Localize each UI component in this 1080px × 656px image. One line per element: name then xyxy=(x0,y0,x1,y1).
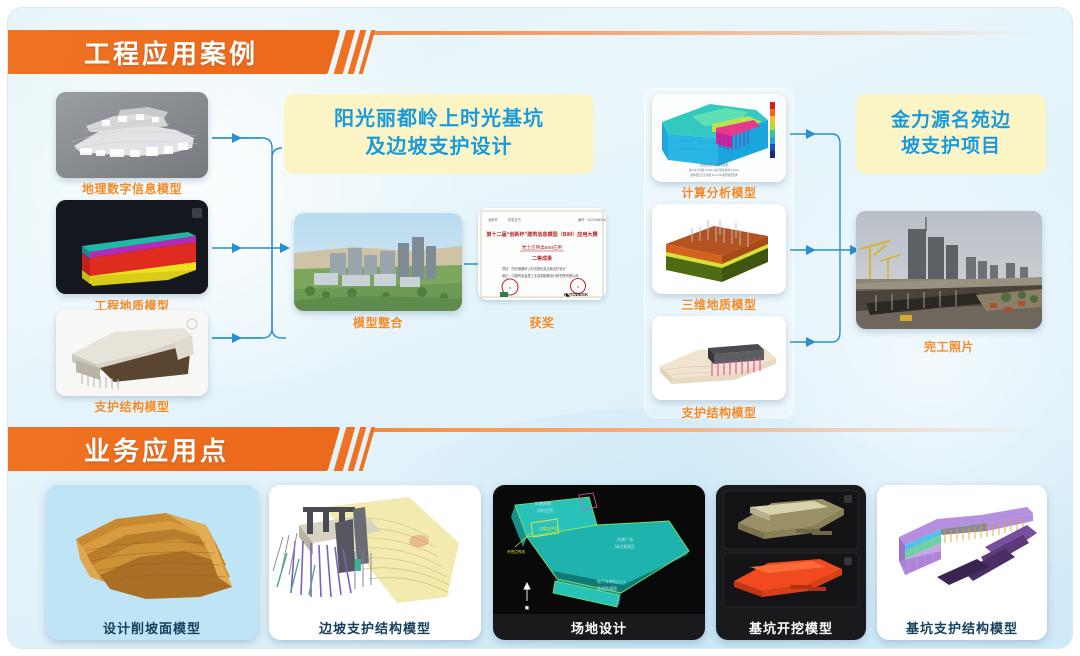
geology-block-art xyxy=(652,204,786,294)
plate-right-line-2: 坡支护项目 xyxy=(901,134,1001,160)
svg-text:★: ★ xyxy=(577,285,580,289)
svg-text:创新杯: 创新杯 xyxy=(488,217,498,222)
plate-line-2: 及边坡支护设计 xyxy=(366,134,513,162)
business-card-label-3: 场地设计 xyxy=(493,614,705,640)
thumbnail-analysis-model[interactable]: 边坡稳定性计算分析成果 最大水平位移 0.012m 最大竖向位移 0.021m … xyxy=(652,94,786,182)
svg-text:单位：中国有色金属工业昆明勘察设计研究院有限公司: 单位：中国有色金属工业昆明勘察设计研究院有限公司 xyxy=(502,273,579,278)
business-card-label-4: 基坑开挖模型 xyxy=(716,614,866,640)
slide-panel: 工程应用案例 xyxy=(8,8,1072,648)
right-connector-arrows xyxy=(788,94,866,414)
thumbnail-3d-geology-model[interactable] xyxy=(652,204,786,294)
business-card-pit-support[interactable]: 基坑支护结构模型 xyxy=(877,485,1047,640)
header2-rule xyxy=(374,428,1034,432)
retaining-wall-art xyxy=(56,310,208,396)
svg-text:N: N xyxy=(526,605,529,610)
thumbnail-support-structure-model-right[interactable] xyxy=(652,316,786,400)
svg-text:拟建广场: 拟建广场 xyxy=(617,536,633,542)
svg-text:地下车库出入口: 地下车库出入口 xyxy=(597,578,625,584)
caption-analysis-model: 计算分析模型 xyxy=(652,184,786,201)
point-cloud-terrain-art xyxy=(56,92,208,178)
svg-text:开挖边界线: 开挖边界线 xyxy=(507,549,525,554)
svg-text:最大水平位移 0.012m 最大竖向位移 0.021m: 最大水平位移 0.012m 最大竖向位移 0.021m xyxy=(689,168,740,172)
svg-text:二等成果: 二等成果 xyxy=(532,255,553,262)
svg-text:第十二届“创新杯”建筑信息模型（BIM）应用大赛: 第十二届“创新杯”建筑信息模型（BIM）应用大赛 xyxy=(486,231,598,238)
slide-canvas: 工程应用案例 xyxy=(0,0,1080,656)
caption-support-structure-model-right: 支护结构模型 xyxy=(652,404,786,421)
svg-text:绿化景观区: 绿化景观区 xyxy=(615,543,635,549)
slope-support-anchors-art xyxy=(269,485,481,614)
business-card-slope-support[interactable]: 边坡支护结构模型 xyxy=(269,485,481,640)
section-header-engineering-cases: 工程应用案例 xyxy=(38,30,1038,74)
section-header-business-points: 业务应用点 xyxy=(38,427,1038,471)
header-rule xyxy=(374,31,1034,35)
thumbnail-completion-photo[interactable] xyxy=(856,211,1042,329)
fem-contour-art: 边坡稳定性计算分析成果 最大水平位移 0.012m 最大竖向位移 0.021m … xyxy=(652,94,786,182)
business-card-site-design[interactable]: 拟建建筑用地范围 拟建广场绿化景观区 地下车库出入口及消防通道 边坡支护区 开挖… xyxy=(493,485,705,640)
svg-text:编号：2021BIM0083: 编号：2021BIM0083 xyxy=(578,217,606,222)
plate-right-line-1: 金力源名苑边 xyxy=(891,108,1011,134)
caption-award: 获奖 xyxy=(478,314,606,331)
svg-text:整体稳定安全系数 Fs=1.36 满足规范要求: 整体稳定安全系数 Fs=1.36 满足规范要求 xyxy=(690,173,738,177)
svg-text:及消防通道: 及消防通道 xyxy=(597,585,617,591)
business-card-label-1: 设计削坡面模型 xyxy=(46,614,258,640)
business-card-label-5: 基坑支护结构模型 xyxy=(877,614,1047,640)
project-title-plate-left: 阳光丽都岭上时光基坑 及边坡支护设计 xyxy=(284,94,594,174)
business-card-excavation[interactable]: 基坑开挖模型 xyxy=(716,485,866,640)
support-structure-pale-art xyxy=(652,316,786,400)
terraced-slope-gold-art xyxy=(46,485,258,614)
thumbnail-award-certificate[interactable]: 创新杯获奖证书 编号：2021BIM0083 第十二届“创新杯”建筑信息模型（B… xyxy=(478,208,606,300)
section2-title: 业务应用点 xyxy=(84,427,229,471)
svg-text:拟建建筑: 拟建建筑 xyxy=(535,500,551,506)
plate-line-1: 阳光丽都岭上时光基坑 xyxy=(334,106,544,134)
construction-site-photo-art xyxy=(856,211,1042,329)
caption-support-structure-model-left: 支护结构模型 xyxy=(56,398,208,415)
svg-text:获奖证书: 获奖证书 xyxy=(508,217,522,222)
caption-3d-geology-model: 三维地质模型 xyxy=(652,296,786,313)
svg-text:边坡支护区: 边坡支护区 xyxy=(539,525,559,531)
pit-support-colored-art xyxy=(877,485,1047,614)
site-plan-teal-art: 拟建建筑用地范围 拟建广场绿化景观区 地下车库出入口及消防通道 边坡支护区 开挖… xyxy=(493,485,705,614)
award-certificate-art: 创新杯获奖证书 编号：2021BIM0083 第十二届“创新杯”建筑信息模型（B… xyxy=(478,208,606,300)
geology-layers-art xyxy=(56,200,208,294)
svg-text:项目：阳光丽都岭上时光基坑及边坡支护设计: 项目：阳光丽都岭上时光基坑及边坡支护设计 xyxy=(502,266,567,271)
caption-geo-digital-model: 地理数字信息模型 xyxy=(56,180,208,197)
thumbnail-support-structure-model-left[interactable] xyxy=(56,310,208,396)
svg-text:★: ★ xyxy=(509,286,512,290)
thumbnail-engineering-geology-model[interactable] xyxy=(56,200,208,294)
thumbnail-geo-digital-model[interactable] xyxy=(56,92,208,178)
business-card-label-2: 边坡支护结构模型 xyxy=(269,614,481,640)
thumbnail-model-integration[interactable] xyxy=(294,213,462,311)
site-render-art xyxy=(294,213,462,311)
svg-text:岩土应用类BIM应用: 岩土应用类BIM应用 xyxy=(522,244,563,251)
section-title: 工程应用案例 xyxy=(84,30,258,74)
excavation-two-views-art xyxy=(716,485,866,614)
caption-model-integration: 模型整合 xyxy=(294,314,462,331)
caption-completion-photo: 完工照片 xyxy=(856,338,1042,355)
svg-text:用地范围: 用地范围 xyxy=(537,507,553,513)
business-card-terraced-slope[interactable]: 设计削坡面模型 xyxy=(46,485,258,640)
svg-text:边坡稳定性计算分析成果: 边坡稳定性计算分析成果 xyxy=(700,163,729,167)
project-title-plate-right: 金力源名苑边 坡支护项目 xyxy=(856,94,1046,174)
